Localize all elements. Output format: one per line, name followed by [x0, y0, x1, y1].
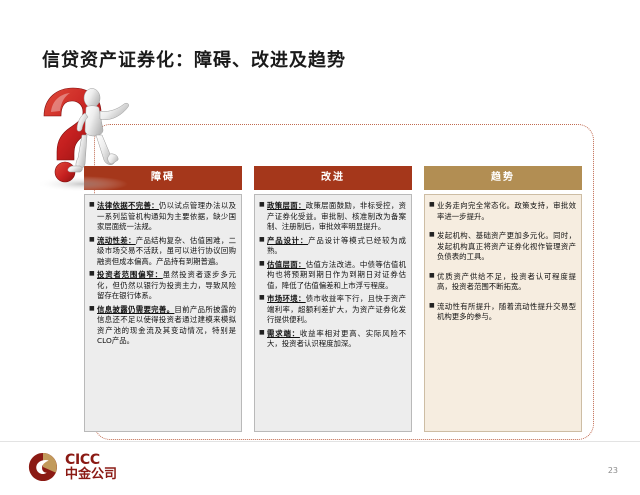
bullet-lead: 流动性差： [97, 236, 136, 245]
square-bullet-icon [89, 236, 97, 268]
column-header-improvements: 改进 [254, 166, 412, 190]
square-bullet-icon [259, 236, 267, 257]
question-mark-illustration [24, 82, 148, 194]
square-bullet-icon [429, 201, 437, 222]
square-bullet-icon [259, 294, 267, 326]
column-body-improvements: 政策层面：政策层面鼓励，非标受控，资产证券化受益。审批制、核准制改为备案制、注册… [254, 194, 412, 432]
bullet-text: 市场环境：债市收益率下行，且快于资产端利率，超额利差扩大，为资产证券化发行提供便… [267, 294, 406, 326]
bullet-text: 投资者范围偏窄：虽然投资者逐步多元化，但仍然以银行为投资主力，导致风险留存在银行… [97, 270, 236, 302]
bullet-text: 产品设计：产品设计等模式已经较为成熟。 [267, 236, 406, 257]
column-trends: 趋势 业务走向完全常态化。政策支持，审批效率进一步提升。 发起机构、基础资产更加… [424, 166, 582, 432]
square-bullet-icon [89, 305, 97, 347]
column-body-obstacles: 法律依据不完善：仍以试点管理办法以及一系列监管机构通知为主要依据，缺少国家层面统… [84, 194, 242, 432]
bullet-lead: 信息披露仍需要完善。 [97, 305, 174, 314]
square-bullet-icon [89, 201, 97, 233]
bullet-text: 需求端：收益率相对更高、实际风险不大，投资者认识程度加深。 [267, 329, 406, 350]
list-item: 优质资产供给不足，投资者认可程度提高，投资者范围不断拓宽。 [429, 272, 576, 293]
square-bullet-icon [259, 329, 267, 350]
content-columns: 障碍 法律依据不完善：仍以试点管理办法以及一系列监管机构通知为主要依据，缺少国家… [84, 166, 584, 432]
square-bullet-icon [429, 231, 437, 263]
list-item: 信息披露仍需要完善。目前产品所披露的信息还不足以使得投资者通过建模来模拟资产池的… [89, 305, 236, 347]
list-item: 估值层面：估值方法改进。中债等估值机构也将预期到期日作为到期日对证券估值，降低了… [259, 260, 406, 292]
logo-cn-label: 中金公司 [65, 468, 117, 481]
bullet-text: 业务走向完全常态化。政策支持，审批效率进一步提升。 [437, 201, 576, 222]
column-obstacles: 障碍 法律依据不完善：仍以试点管理办法以及一系列监管机构通知为主要依据，缺少国家… [84, 166, 242, 432]
page-title: 信贷资产证券化：障碍、改进及趋势 [42, 46, 346, 72]
square-bullet-icon [259, 260, 267, 292]
cicc-logo: CICC 中金公司 [28, 452, 117, 482]
column-header-trends: 趋势 [424, 166, 582, 190]
list-item: 流动性有所提升，随着流动性提升交易型机构更多的参与。 [429, 302, 576, 323]
bullet-lead: 市场环境： [267, 294, 306, 303]
column-improvements: 改进 政策层面：政策层面鼓励，非标受控，资产证券化受益。审批制、核准制改为备案制… [254, 166, 412, 432]
list-item: 需求端：收益率相对更高、实际风险不大，投资者认识程度加深。 [259, 329, 406, 350]
cicc-logo-icon [28, 452, 58, 482]
bullet-text: 信息披露仍需要完善。目前产品所披露的信息还不足以使得投资者通过建模来模拟资产池的… [97, 305, 236, 347]
footer-divider [0, 441, 640, 442]
column-body-trends: 业务走向完全常态化。政策支持，审批效率进一步提升。 发起机构、基础资产更加多元化… [424, 194, 582, 432]
page-number: 23 [608, 466, 618, 475]
list-item: 市场环境：债市收益率下行，且快于资产端利率，超额利差扩大，为资产证券化发行提供便… [259, 294, 406, 326]
bullet-lead: 法律依据不完善： [97, 201, 159, 210]
bullet-text: 流动性差：产品结构复杂、估值困难，二级市场交易不活跃，虽可以进行协议回购融资但成… [97, 236, 236, 268]
square-bullet-icon [429, 302, 437, 323]
list-item: 流动性差：产品结构复杂、估值困难，二级市场交易不活跃，虽可以进行协议回购融资但成… [89, 236, 236, 268]
bullet-lead: 估值层面： [267, 260, 306, 269]
bullet-text: 发起机构、基础资产更加多元化。同时，发起机构真正将资产证券化视作管理资产负债表的… [437, 231, 576, 263]
list-item: 发起机构、基础资产更加多元化。同时，发起机构真正将资产证券化视作管理资产负债表的… [429, 231, 576, 263]
bullet-lead: 政策层面： [267, 201, 306, 210]
bullet-text: 优质资产供给不足，投资者认可程度提高，投资者范围不断拓宽。 [437, 272, 576, 293]
square-bullet-icon [89, 270, 97, 302]
bullet-text: 政策层面：政策层面鼓励，非标受控，资产证券化受益。审批制、核准制改为备案制、注册… [267, 201, 406, 233]
bullet-text: 流动性有所提升，随着流动性提升交易型机构更多的参与。 [437, 302, 576, 323]
list-item: 业务走向完全常态化。政策支持，审批效率进一步提升。 [429, 201, 576, 222]
square-bullet-icon [259, 201, 267, 233]
bullet-lead: 需求端： [267, 329, 300, 338]
list-item: 投资者范围偏窄：虽然投资者逐步多元化，但仍然以银行为投资主力，导致风险留存在银行… [89, 270, 236, 302]
list-item: 政策层面：政策层面鼓励，非标受控，资产证券化受益。审批制、核准制改为备案制、注册… [259, 201, 406, 233]
bullet-text: 法律依据不完善：仍以试点管理办法以及一系列监管机构通知为主要依据，缺少国家层面统… [97, 201, 236, 233]
slide-canvas: 信贷资产证券化：障碍、改进及趋势 [0, 0, 640, 495]
square-bullet-icon [429, 272, 437, 293]
list-item: 法律依据不完善：仍以试点管理办法以及一系列监管机构通知为主要依据，缺少国家层面统… [89, 201, 236, 233]
bullet-text: 估值层面：估值方法改进。中债等估值机构也将预期到期日作为到期日对证券估值，降低了… [267, 260, 406, 292]
bullet-lead: 产品设计： [267, 236, 308, 245]
logo-en-label: CICC [65, 453, 117, 467]
list-item: 产品设计：产品设计等模式已经较为成熟。 [259, 236, 406, 257]
bullet-lead: 投资者范围偏窄： [97, 270, 163, 279]
cicc-logo-text: CICC 中金公司 [65, 453, 117, 481]
question-mark-icon [24, 82, 148, 194]
